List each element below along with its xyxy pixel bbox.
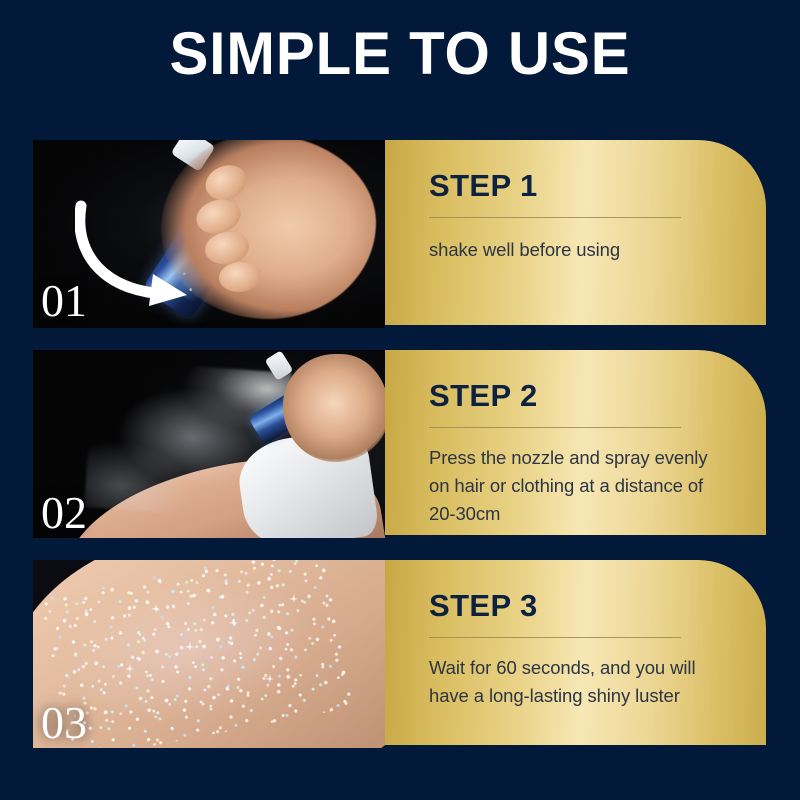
step-1-divider — [429, 217, 681, 218]
step-2-divider — [429, 427, 681, 428]
sparkle-star-icon — [151, 604, 160, 613]
step-3-title: STEP 3 — [429, 590, 538, 621]
sparkle-star-icon — [229, 618, 238, 627]
step-3-photo: 03 — [33, 560, 385, 748]
step-3-divider — [429, 637, 681, 638]
page-title: SIMPLE TO USE — [12, 24, 788, 84]
sparkle-star-icon — [265, 674, 274, 683]
step-3-text-panel: STEP 3 Wait for 60 seconds, and you will… — [385, 560, 766, 745]
sparkle-star-icon — [125, 664, 134, 673]
step-1-photo: 01 — [33, 140, 385, 328]
step-number-badge: 03 — [41, 700, 87, 746]
sparkle-star-icon — [289, 594, 298, 603]
step-2-title: STEP 2 — [429, 380, 538, 411]
step-row-1: 01 STEP 1 shake well before using — [33, 140, 766, 328]
step-2-text-panel: STEP 2 Press the nozzle and spray evenly… — [385, 350, 766, 535]
curved-arrow-icon — [75, 200, 211, 308]
step-3-body: Wait for 60 seconds, and you will have a… — [429, 654, 729, 710]
step-number-badge: 01 — [41, 278, 87, 324]
step-1-title: STEP 1 — [429, 170, 538, 201]
sparkle-star-icon — [185, 642, 194, 651]
step-1-body: shake well before using — [429, 236, 729, 264]
step-number-badge: 02 — [41, 490, 87, 536]
step-row-3: 03 STEP 3 Wait for 60 seconds, and you w… — [33, 560, 766, 748]
step-row-2: 02 STEP 2 Press the nozzle and spray eve… — [33, 350, 766, 538]
step-2-body: Press the nozzle and spray evenly on hai… — [429, 444, 729, 528]
step-2-photo: 02 — [33, 350, 385, 538]
step-1-text-panel: STEP 1 shake well before using — [385, 140, 766, 325]
product-instructions-page: SIMPLE TO USE 01 S — [0, 0, 800, 800]
hand — [283, 354, 385, 462]
